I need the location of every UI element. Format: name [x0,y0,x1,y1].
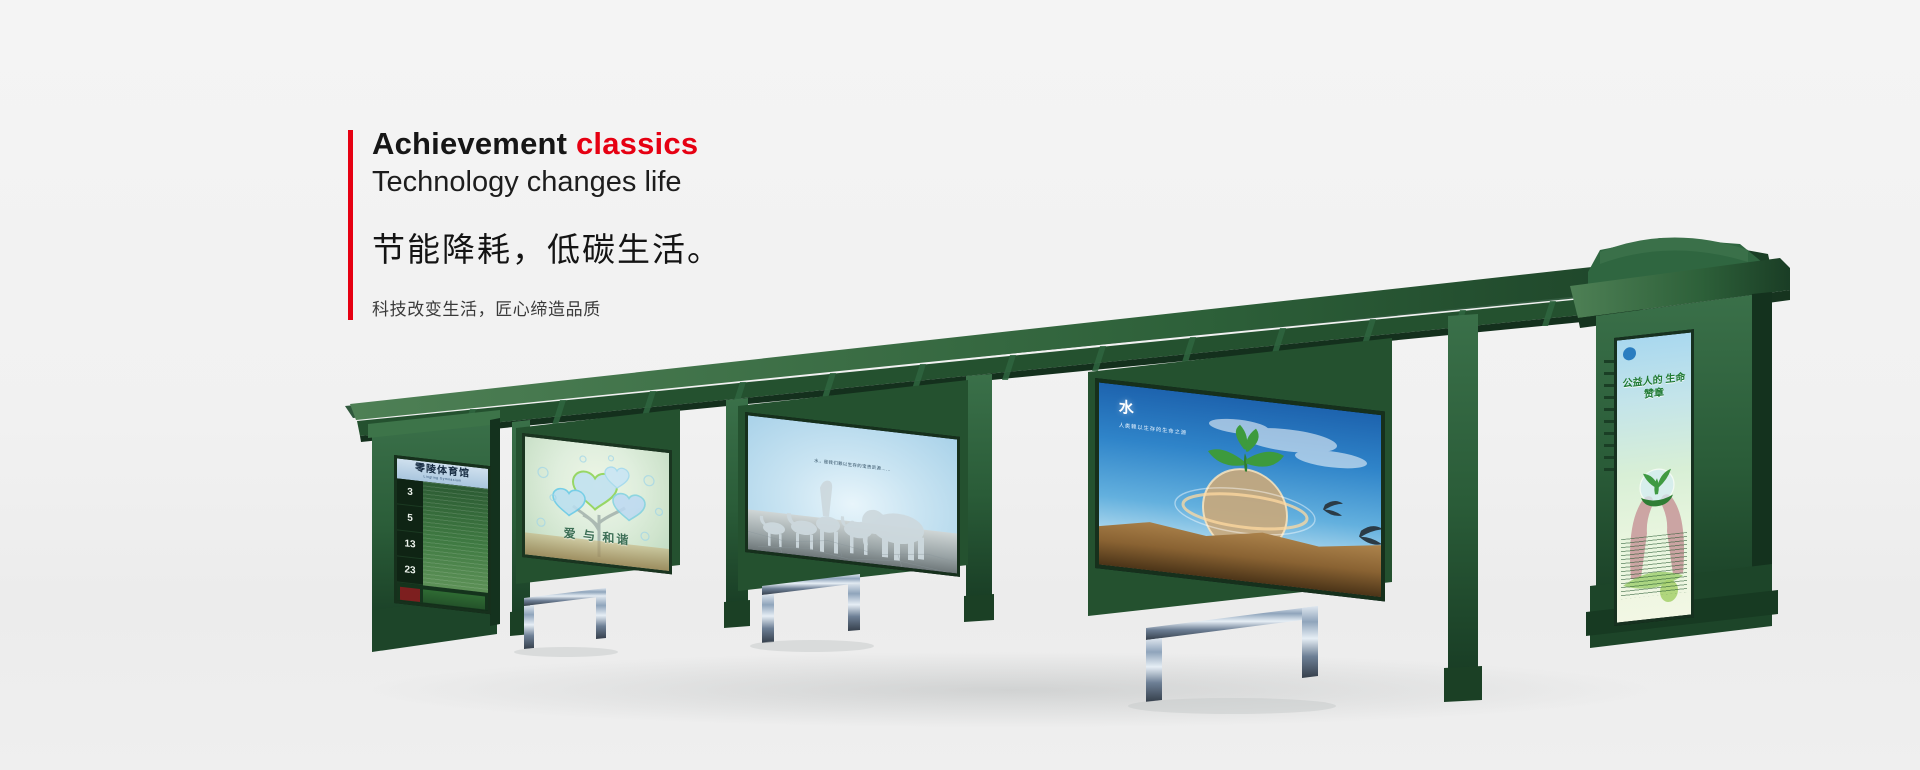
ngo-body-text [1621,532,1686,599]
column-5 [1448,314,1478,692]
footer-tag [400,587,420,602]
route-number: 5 [397,504,423,533]
column-5-base [1444,666,1482,702]
route-stops-列表 [423,481,488,593]
pylon-body-right [1752,292,1772,612]
bench-2 [750,574,874,652]
panel-heart-tree-ad[interactable]: 爱 与 和谐 [522,433,672,574]
column-3-base [724,600,750,628]
route-number: 23 [397,556,423,585]
route-number-column: 3 5 13 23 [397,478,423,585]
route-board-grid: 3 5 13 23 [397,478,488,593]
column-4-base [964,594,994,622]
panel-water-ad[interactable]: 水 人类赖以生存的生命之源 [1095,378,1385,602]
roof-fascia-front [350,250,1772,420]
bench-1 [514,588,618,657]
route-number: 3 [397,478,423,507]
scene-canvas: Achievement classics Technology changes … [0,0,1920,770]
panel-route-board[interactable]: 零陵体育馆 Lingling Gymnasium 3 5 13 23 [394,455,491,614]
water-title: 水 [1119,396,1134,419]
panel-animals-ad[interactable]: 水，是我们赖以生存的宝贵资源…… [745,412,960,577]
animals-silhouettes [748,415,960,577]
footer-notice [423,589,485,609]
column-4 [966,374,992,614]
column-1-left-edge [490,418,500,626]
route-number: 13 [397,530,423,559]
panel-ngo-poster[interactable]: 公益人的 生命赞章 [1614,329,1694,626]
